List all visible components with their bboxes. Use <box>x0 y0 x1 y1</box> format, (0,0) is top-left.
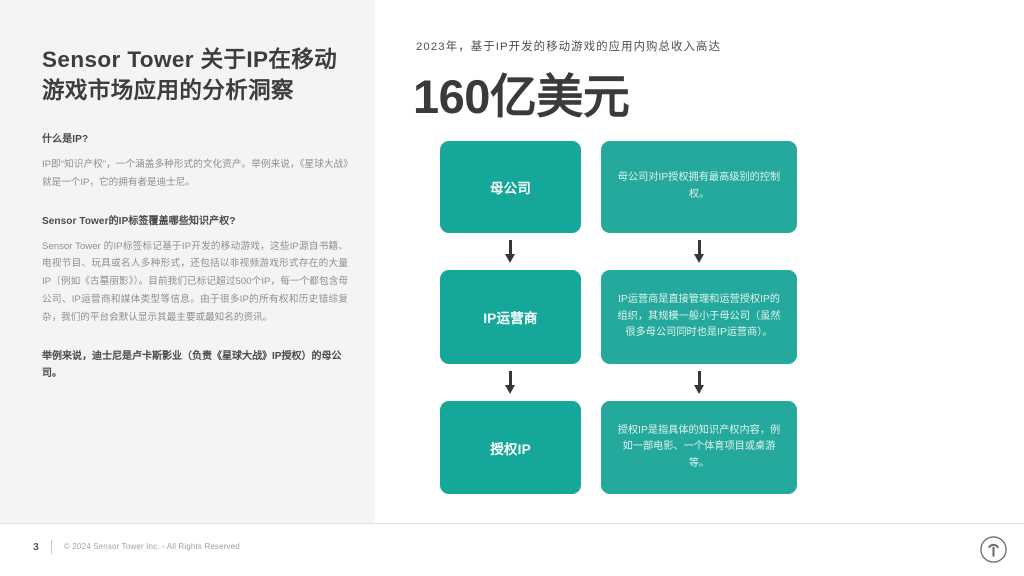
arrow-down-icon <box>694 240 705 264</box>
arrow-cell-left-1 <box>440 233 581 270</box>
sensor-tower-logo-mark <box>979 535 1008 564</box>
section-heading-what-is-ip: 什么是IP? <box>42 132 348 147</box>
page-number: 3 <box>33 541 39 553</box>
page-title: Sensor Tower 关于IP在移动游戏市场应用的分析洞察 <box>42 44 348 106</box>
slide-canvas: Sensor Tower 关于IP在移动游戏市场应用的分析洞察 什么是IP? I… <box>0 0 1024 576</box>
arrow-cell-right-1 <box>601 233 797 270</box>
flow-description-licensed-ip: 授权IP是指具体的知识产权内容，例如一部电影、一个体育项目或桌游等。 <box>601 401 797 494</box>
ip-hierarchy-flow-diagram: 母公司 母公司对IP授权拥有最高级别的控制权。 IP运营商 IP运营商是直接管理… <box>440 141 797 494</box>
flow-description-parent-company: 母公司对IP授权拥有最高级别的控制权。 <box>601 141 797 233</box>
flow-label-parent-company: 母公司 <box>440 141 581 233</box>
arrow-cell-right-2 <box>601 364 797 401</box>
left-info-panel: Sensor Tower 关于IP在移动游戏市场应用的分析洞察 什么是IP? I… <box>0 0 375 523</box>
right-content-panel: 2023年，基于IP开发的移动游戏的应用内购总收入高达 160亿美元 母公司 母… <box>375 0 1024 523</box>
flow-label-licensed-ip: 授权IP <box>440 401 581 494</box>
flow-description-ip-operator: IP运营商是直接管理和运营授权IP的组织，其规模一般小于母公司（虽然很多母公司同… <box>601 270 797 364</box>
arrow-down-icon <box>694 371 705 395</box>
arrow-cell-left-2 <box>440 364 581 401</box>
arrow-down-icon <box>505 371 516 395</box>
flow-row-ip-operator: IP运营商 IP运营商是直接管理和运营授权IP的组织，其规模一般小于母公司（虽然… <box>440 270 797 364</box>
flow-row-parent-company: 母公司 母公司对IP授权拥有最高级别的控制权。 <box>440 141 797 233</box>
left-panel-content: Sensor Tower 关于IP在移动游戏市场应用的分析洞察 什么是IP? I… <box>42 44 348 383</box>
flow-arrows-row-2 <box>440 364 797 401</box>
flow-label-ip-operator: IP运营商 <box>440 270 581 364</box>
flow-arrows-row-1 <box>440 233 797 270</box>
kpi-subtitle: 2023年，基于IP开发的移动游戏的应用内购总收入高达 <box>416 38 721 54</box>
flow-row-licensed-ip: 授权IP 授权IP是指具体的知识产权内容，例如一部电影、一个体育项目或桌游等。 <box>440 401 797 494</box>
section-body-what-is-ip: IP即“知识产权”，一个涵盖多种形式的文化资产。举例来说，《星球大战》就是一个I… <box>42 156 348 191</box>
closing-note: 举例来说，迪士尼是卢卡斯影业（负责《星球大战》IP授权）的母公司。 <box>42 348 348 382</box>
section-heading-ip-tag-coverage: Sensor Tower的IP标签覆盖哪些知识产权? <box>42 214 348 229</box>
footer-separator <box>51 540 52 554</box>
copyright-text: © 2024 Sensor Tower Inc. - All Rights Re… <box>64 542 240 551</box>
section-body-ip-tag-coverage: Sensor Tower 的IP标签标记基于IP开发的移动游戏，这些IP源自书籍… <box>42 238 348 327</box>
kpi-value: 160亿美元 <box>413 58 629 127</box>
arrow-down-icon <box>505 240 516 264</box>
